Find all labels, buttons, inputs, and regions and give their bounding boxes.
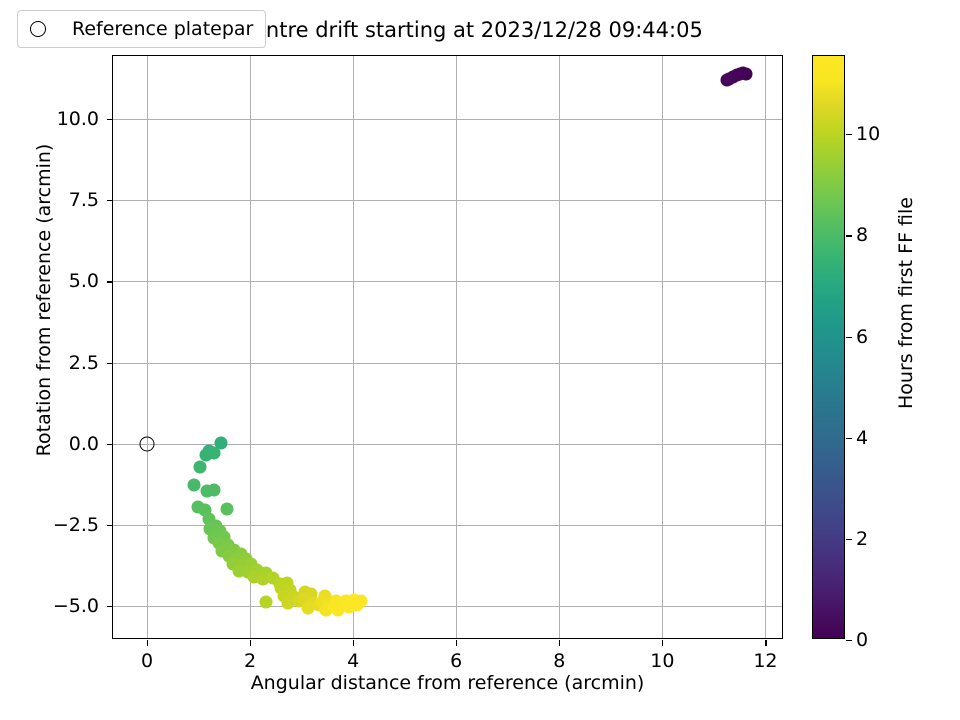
y-axis-tick bbox=[107, 363, 113, 364]
colorbar-gradient bbox=[813, 56, 844, 638]
colorbar-tick-label: 10 bbox=[856, 123, 880, 145]
y-axis-label: Rotation from reference (arcmin) bbox=[33, 8, 55, 592]
x-axis-tick bbox=[662, 640, 663, 646]
x-axis-tick bbox=[250, 640, 251, 646]
y-axis-tick-label: 5.0 bbox=[69, 270, 99, 292]
x-axis-tick bbox=[147, 640, 148, 646]
y-axis-tick-label: −2.5 bbox=[53, 514, 99, 536]
x-axis-label: Angular distance from reference (arcmin) bbox=[112, 672, 783, 694]
colorbar-tick bbox=[846, 235, 852, 236]
y-axis-tick bbox=[107, 606, 113, 607]
y-axis-tick bbox=[107, 444, 113, 445]
colorbar-tick-label: 6 bbox=[856, 326, 868, 348]
y-axis-tick-label: 0.0 bbox=[69, 433, 99, 455]
colorbar-tick bbox=[846, 337, 852, 338]
x-axis-tick bbox=[559, 640, 560, 646]
colorbar: 0246810 bbox=[812, 55, 845, 639]
x-axis-tick-label: 6 bbox=[450, 650, 462, 672]
y-axis-tick bbox=[107, 119, 113, 120]
colorbar-tick-label: 8 bbox=[856, 224, 868, 246]
y-axis-tick-label: 2.5 bbox=[69, 352, 99, 374]
x-axis-tick bbox=[456, 640, 457, 646]
axes-overlay-layer bbox=[113, 56, 782, 638]
x-axis-tick-label: 8 bbox=[553, 650, 565, 672]
scatter-plot-axes: 02468101210.07.55.02.50.0−2.5−5.0 bbox=[112, 55, 783, 639]
y-axis-tick-label: −5.0 bbox=[53, 595, 99, 617]
x-axis-tick bbox=[765, 640, 766, 646]
y-axis-tick-label: 10.0 bbox=[57, 108, 99, 130]
x-axis-tick-label: 0 bbox=[141, 650, 153, 672]
x-axis-tick-label: 10 bbox=[650, 650, 674, 672]
colorbar-tick-label: 0 bbox=[856, 629, 868, 651]
y-axis-tick bbox=[107, 200, 113, 201]
colorbar-tick bbox=[846, 539, 852, 540]
legend-item-label: Reference platepar bbox=[72, 18, 253, 40]
y-axis-tick-label: 7.5 bbox=[69, 189, 99, 211]
x-axis-tick-label: 4 bbox=[347, 650, 359, 672]
colorbar-tick-label: 4 bbox=[856, 427, 868, 449]
x-axis-tick-label: 2 bbox=[244, 650, 256, 672]
reference-platepar-marker-icon bbox=[30, 21, 46, 37]
colorbar-tick bbox=[846, 134, 852, 135]
x-axis-tick-label: 12 bbox=[753, 650, 777, 672]
colorbar-label: Hours from first FF file bbox=[895, 11, 917, 595]
legend: Reference platepar bbox=[17, 10, 266, 48]
colorbar-tick-label: 2 bbox=[856, 528, 868, 550]
matplotlib-figure: FOV centre drift starting at 2023/12/28 … bbox=[0, 0, 960, 720]
y-axis-tick bbox=[107, 525, 113, 526]
reference-platepar-marker bbox=[140, 436, 155, 451]
x-axis-tick bbox=[353, 640, 354, 646]
colorbar-tick bbox=[846, 438, 852, 439]
colorbar-tick bbox=[846, 640, 852, 641]
y-axis-tick bbox=[107, 281, 113, 282]
